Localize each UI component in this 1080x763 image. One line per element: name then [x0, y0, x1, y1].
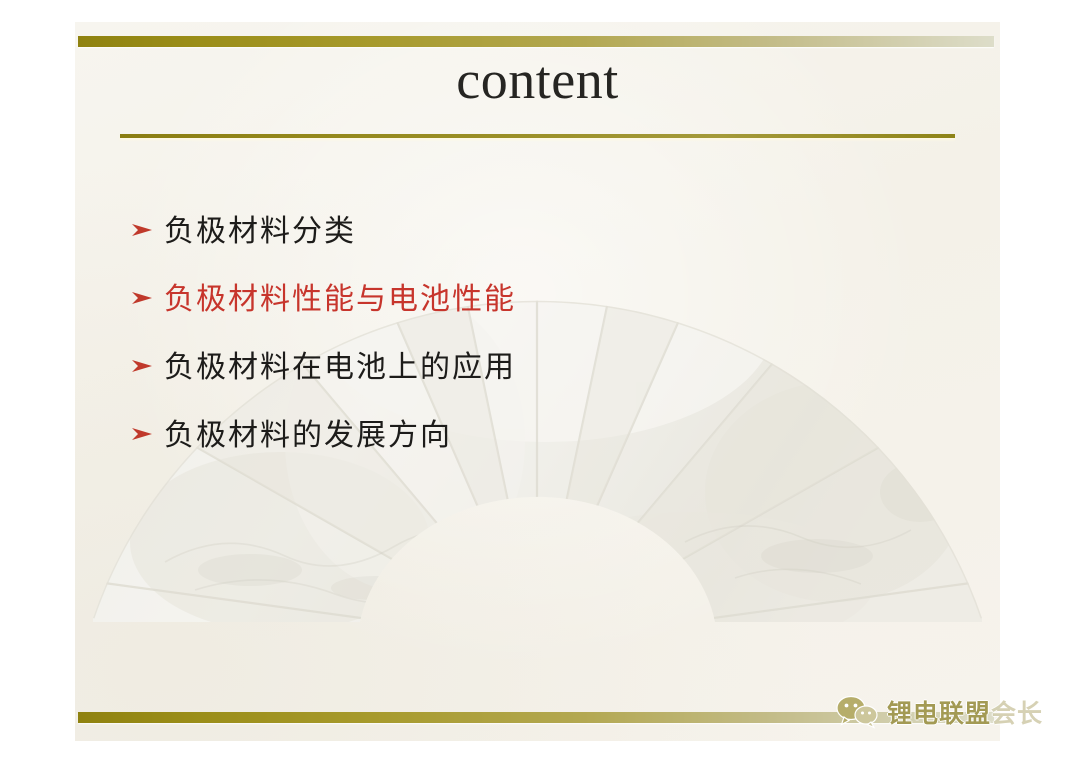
list-item[interactable]: 负极材料在电池上的应用 — [130, 348, 850, 392]
arrow-bullet-icon — [130, 280, 164, 307]
slide-canvas: content 负极材料分类 负极材料性能与电池性能 — [75, 22, 1000, 741]
page-title: content — [75, 52, 1000, 109]
list-item-label: 负极材料在电池上的应用 — [164, 348, 850, 389]
title-underline-rule — [120, 134, 955, 138]
list-item[interactable]: 负极材料分类 — [130, 212, 850, 256]
arrow-bullet-icon — [130, 348, 164, 375]
agenda-list: 负极材料分类 负极材料性能与电池性能 负极材料在电池上的应用 — [130, 212, 850, 484]
arrow-bullet-icon — [130, 212, 164, 239]
slide-root: content 负极材料分类 负极材料性能与电池性能 — [0, 0, 1080, 763]
top-gold-bar — [78, 36, 994, 47]
list-item-label: 负极材料的发展方向 — [164, 416, 850, 457]
title-block: content — [75, 52, 1000, 109]
bottom-gold-bar — [78, 712, 994, 723]
arrow-bullet-icon — [130, 416, 164, 443]
list-item[interactable]: 负极材料性能与电池性能 — [130, 280, 850, 324]
list-item-label: 负极材料分类 — [164, 212, 850, 253]
list-item-label: 负极材料性能与电池性能 — [164, 280, 850, 321]
list-item[interactable]: 负极材料的发展方向 — [130, 416, 850, 460]
